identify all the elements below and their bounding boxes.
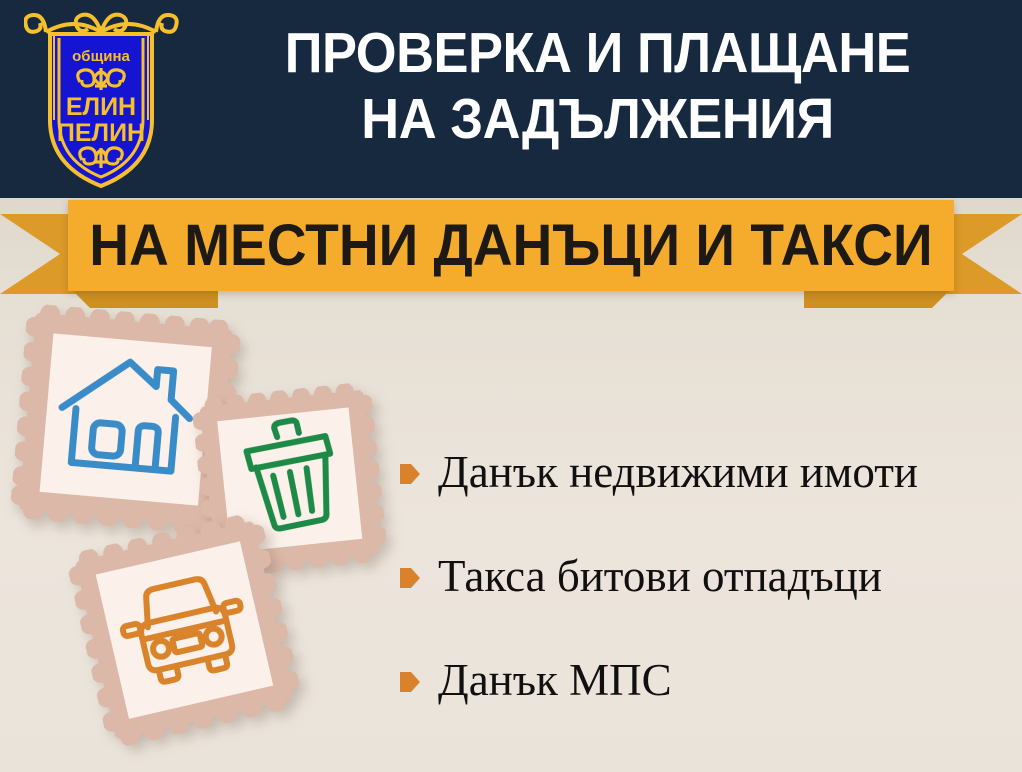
page-title-line-1: ПРОВЕРКА И ПЛАЩАНЕ [213,20,981,86]
ribbon-body: НА МЕСТНИ ДАНЪЦИ И ТАКСИ [68,200,954,291]
logo-name-line2: ПЕЛИН [57,119,145,147]
tax-type-list: Данък недвижими имоти Такса битови отпад… [400,420,1010,732]
list-item-label: Данък недвижими имоти [438,447,918,497]
logo-name-line1: ЕЛИН [66,93,136,121]
poster-canvas: община ЕЛИН ПЕЛИН [0,0,1022,772]
list-item[interactable]: Данък МПС [400,628,1010,732]
logo-top-word: община [72,48,130,65]
arrow-bullet-icon [400,566,420,590]
header-bar: община ЕЛИН ПЕЛИН [0,0,1022,198]
arrow-bullet-icon [400,462,420,486]
page-title-line-2: НА ЗАДЪЛЖЕНИЯ [213,86,981,152]
subtitle-ribbon: НА МЕСТНИ ДАНЪЦИ И ТАКСИ [0,200,1022,308]
coat-of-arms-icon: община ЕЛИН ПЕЛИН [24,8,179,190]
municipality-logo: община ЕЛИН ПЕЛИН [24,8,179,190]
list-item-label: Данък МПС [438,655,672,705]
list-item[interactable]: Данък недвижими имоти [400,420,1010,524]
ribbon-label: НА МЕСТНИ ДАНЪЦИ И ТАКСИ [89,216,932,276]
stamp-collage [0,300,410,770]
arrow-bullet-icon [400,670,420,694]
list-item[interactable]: Такса битови отпадъци [400,524,1010,628]
page-title: ПРОВЕРКА И ПЛАЩАНЕ НА ЗАДЪЛЖЕНИЯ [213,20,981,152]
list-item-label: Такса битови отпадъци [438,551,882,601]
